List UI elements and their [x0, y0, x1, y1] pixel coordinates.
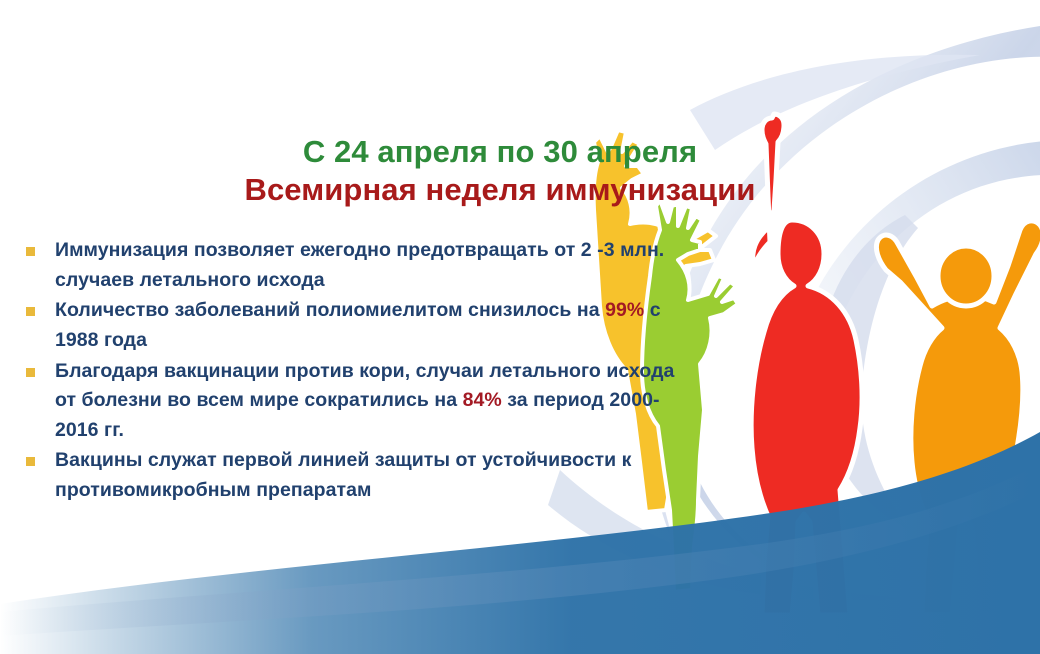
slide-title: С 24 апреля по 30 апреля Всемирная недел… — [180, 134, 820, 208]
title-date-range: С 24 апреля по 30 апреля — [180, 134, 820, 171]
bullet-text-4: Вакцины служат первой линией защиты от у… — [55, 446, 686, 505]
bullet-text-2: Количество заболеваний полиомиелитом сни… — [55, 296, 686, 355]
square-bullet-icon — [26, 247, 35, 256]
square-bullet-icon — [26, 307, 35, 316]
title-main: Всемирная неделя иммунизации — [180, 171, 820, 208]
bullet-text-1: Иммунизация позволяет ежегодно предотвра… — [55, 236, 686, 295]
bullet-text-3: Благодаря вакцинации против кори, случаи… — [55, 357, 686, 446]
orange-figure-arms-up — [876, 221, 1040, 615]
stat-99-percent: 99% — [605, 299, 644, 321]
square-bullet-icon — [26, 457, 35, 466]
bullet-2-lead: Количество заболеваний полиомиелитом сни… — [55, 299, 605, 321]
stat-84-percent: 84% — [463, 389, 502, 411]
list-item: Иммунизация позволяет ежегодно предотвра… — [26, 236, 686, 295]
list-item: Количество заболеваний полиомиелитом сни… — [26, 296, 686, 355]
slide-canvas: С 24 апреля по 30 апреля Всемирная недел… — [0, 0, 1040, 654]
list-item: Вакцины служат первой линией защиты от у… — [26, 446, 686, 505]
square-bullet-icon — [26, 368, 35, 377]
bullet-list: Иммунизация позволяет ежегодно предотвра… — [26, 236, 686, 507]
list-item: Благодаря вакцинации против кори, случаи… — [26, 357, 686, 446]
